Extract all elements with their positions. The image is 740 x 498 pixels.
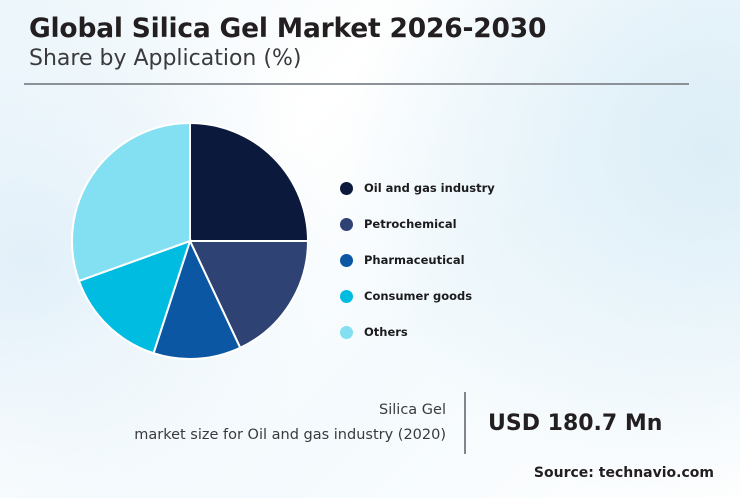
legend-item-oil-and-gas-industry[interactable]: Oil and gas industry: [340, 170, 590, 206]
legend-swatch-icon: [340, 254, 353, 267]
legend-swatch-icon: [340, 182, 353, 195]
callout-value: USD 180.7 Mn: [466, 411, 662, 436]
pie-slice-group: [72, 123, 308, 359]
page-subtitle: Share by Application (%): [29, 46, 701, 72]
legend-item-petrochemical[interactable]: Petrochemical: [340, 206, 590, 242]
legend-swatch-icon: [340, 218, 353, 231]
pie-slice[interactable]: [190, 123, 308, 241]
header-divider: [24, 83, 689, 85]
legend-label: Pharmaceutical: [364, 253, 465, 267]
legend-item-others[interactable]: Others: [340, 314, 590, 350]
legend-label: Petrochemical: [364, 217, 457, 231]
legend-item-pharmaceutical[interactable]: Pharmaceutical: [340, 242, 590, 278]
legend-swatch-icon: [340, 326, 353, 339]
infographic-canvas: Global Silica Gel Market 2026-2030 Share…: [0, 0, 740, 498]
legend-label: Consumer goods: [364, 289, 472, 303]
pie-chart-svg: [71, 122, 309, 360]
legend-item-consumer-goods[interactable]: Consumer goods: [340, 278, 590, 314]
callout-line-2: market size for Oil and gas industry (20…: [86, 423, 446, 448]
page-title: Global Silica Gel Market 2026-2030: [29, 14, 701, 44]
legend-label: Oil and gas industry: [364, 181, 495, 195]
callout-line-1: Silica Gel: [86, 398, 446, 423]
legend-label: Others: [364, 325, 408, 339]
source-attribution: Source: technavio.com: [534, 465, 714, 481]
chart-header: Global Silica Gel Market 2026-2030 Share…: [29, 14, 701, 72]
chart-legend: Oil and gas industry Petrochemical Pharm…: [340, 170, 590, 350]
callout-description: Silica Gel market size for Oil and gas i…: [86, 398, 464, 448]
pie-chart: [71, 122, 309, 360]
legend-swatch-icon: [340, 290, 353, 303]
market-size-callout: Silica Gel market size for Oil and gas i…: [86, 392, 666, 454]
